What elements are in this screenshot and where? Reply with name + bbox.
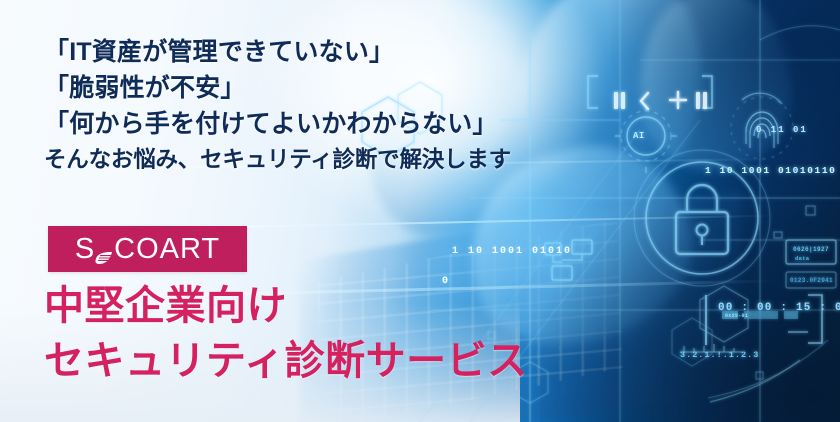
- binary-text-keyboard: 1 10 1001 01010: [452, 246, 572, 257]
- headline-line-4: そんなお悩み、セキュリティ診断で解決します: [44, 142, 511, 178]
- security-service-banner: 「IT資産が管理できていない」 「脆弱性が不安」 「何から手を付けてよいかわから…: [0, 0, 840, 422]
- logo-text-before: S: [75, 233, 95, 266]
- headline-block: 「IT資産が管理できていない」 「脆弱性が不安」 「何から手を付けてよいかわから…: [44, 34, 511, 178]
- zero-mark-label: 0: [442, 276, 448, 287]
- leaf-swoosh-icon: [93, 242, 115, 260]
- chip-label: 0x29-01: [725, 313, 748, 319]
- binary-text-top-right: 0 11 01: [756, 125, 808, 135]
- socoart-logo-badge[interactable]: S COART: [48, 226, 247, 272]
- logo-text: S COART: [75, 233, 220, 266]
- data-panel-line-2: data: [795, 255, 809, 262]
- data-panel-line-3: 0123.0F2941: [790, 277, 833, 284]
- banner-content: 「IT資産が管理できていない」 「脆弱性が不安」 「何から手を付けてよいかわから…: [0, 0, 840, 422]
- logo-text-after: COART: [114, 233, 220, 266]
- headline-line-2: 「脆弱性が不安」: [44, 70, 511, 106]
- headline-line-1: 「IT資産が管理できていない」: [44, 34, 511, 70]
- data-panel-line-1: 0626|1927: [793, 246, 829, 253]
- scale-marks-label: 3.2.1.!.1.2.3: [680, 350, 759, 360]
- binary-text-right: 1 10 1001 01010110: [705, 165, 836, 176]
- headline-line-3: 「何から手を付けてよいかわからない」: [44, 106, 511, 142]
- subheadline-line-2: セキュリティ診断サービス: [44, 337, 528, 385]
- ai-badge-label: AI: [633, 131, 645, 141]
- subheadline-line-1: 中堅企業向け: [44, 282, 287, 330]
